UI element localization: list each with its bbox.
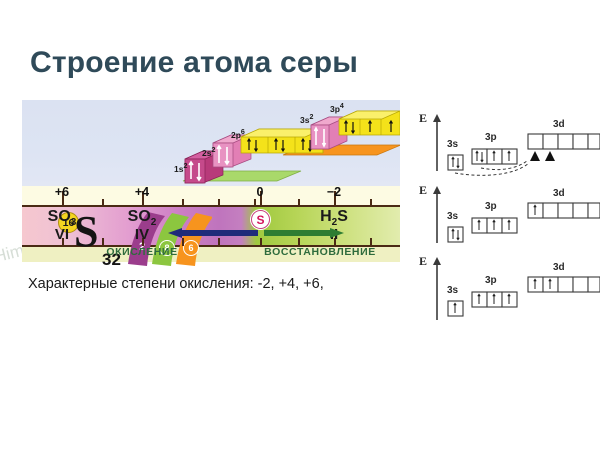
cube-label-2p: 2p6 xyxy=(231,128,245,140)
cube-label-2s: 2s2 xyxy=(202,146,215,158)
subshell-label-3d-2: 3d xyxy=(553,188,565,199)
process-label-oxidation: ОКИСЛЕНИЕ xyxy=(106,246,177,258)
slide-root: Строение атома серы Himage.ru 16 S 32 2 … xyxy=(0,0,600,450)
cube-label-3s: 3s2 xyxy=(300,113,313,125)
scale-tick-minor-2 xyxy=(182,199,184,207)
subshell-label-3s-2: 3s xyxy=(447,211,458,222)
subshell-label-3p-2: 3p xyxy=(485,201,497,212)
element-sulfur-marker: S xyxy=(251,210,270,229)
orbital-cube-diagram xyxy=(155,99,400,187)
oxidation-arrow xyxy=(168,228,258,238)
cube-label-3p: 3p4 xyxy=(330,102,344,114)
scale-btm-tick-6 xyxy=(260,238,262,246)
valence-so3: VI xyxy=(55,226,69,243)
scale-value-minus2: −2 xyxy=(327,185,341,199)
scale-value-plus6: +6 xyxy=(55,185,69,199)
caption-text: Характерные степени окисления: -2, +4, +… xyxy=(28,276,324,292)
subshell-label-3s-1: 3s xyxy=(447,139,458,150)
cube-3p-group xyxy=(339,111,400,135)
scale-btm-tick-4 xyxy=(182,238,184,246)
scale-btm-tick-5 xyxy=(218,238,220,246)
scale-tick-minor-6 xyxy=(370,199,372,207)
energy-diagram-3: E 3s 3p 3d xyxy=(415,248,600,326)
reduction-arrow xyxy=(264,228,344,238)
scale-btm-tick-2 xyxy=(102,238,104,246)
scale-tick-minor-4 xyxy=(254,199,256,207)
subshell-label-3d-1: 3d xyxy=(553,119,565,130)
subshell-label-3p-1: 3p xyxy=(485,132,497,143)
sulfur-overview-panel: 16 S 32 2 8 6 xyxy=(22,100,400,262)
scale-value-zero: 0 xyxy=(257,185,264,199)
scale-value-plus4: +4 xyxy=(135,185,149,199)
energy-diagram-1-graphics xyxy=(415,105,600,177)
scale-btm-tick-9 xyxy=(370,238,372,246)
scale-tick-minor-1 xyxy=(102,199,104,207)
cube-label-1s: 1s2 xyxy=(174,162,187,174)
subshell-label-3d-3: 3d xyxy=(553,262,565,273)
shell-count-3: 6 xyxy=(183,240,199,256)
page-title: Строение атома серы xyxy=(30,46,358,80)
scale-btm-tick-7 xyxy=(298,238,300,246)
energy-diagram-1: E xyxy=(415,105,600,177)
panel-tick-strip xyxy=(22,186,400,206)
process-label-reduction: ВОССТАНОВЛЕНИЕ xyxy=(264,246,376,258)
subshell-label-3p-3: 3p xyxy=(485,275,497,286)
subshell-label-3s-3: 3s xyxy=(447,285,458,296)
scale-tick-minor-3 xyxy=(218,199,220,207)
element-symbol: S xyxy=(74,212,98,252)
energy-diagram-2: E 3s 3p 3d xyxy=(415,177,600,249)
scale-tick-minor-5 xyxy=(298,199,300,207)
energy-diagram-2-graphics xyxy=(415,177,600,249)
energy-diagram-3-graphics xyxy=(415,248,600,326)
valence-so2: IV xyxy=(135,226,149,243)
